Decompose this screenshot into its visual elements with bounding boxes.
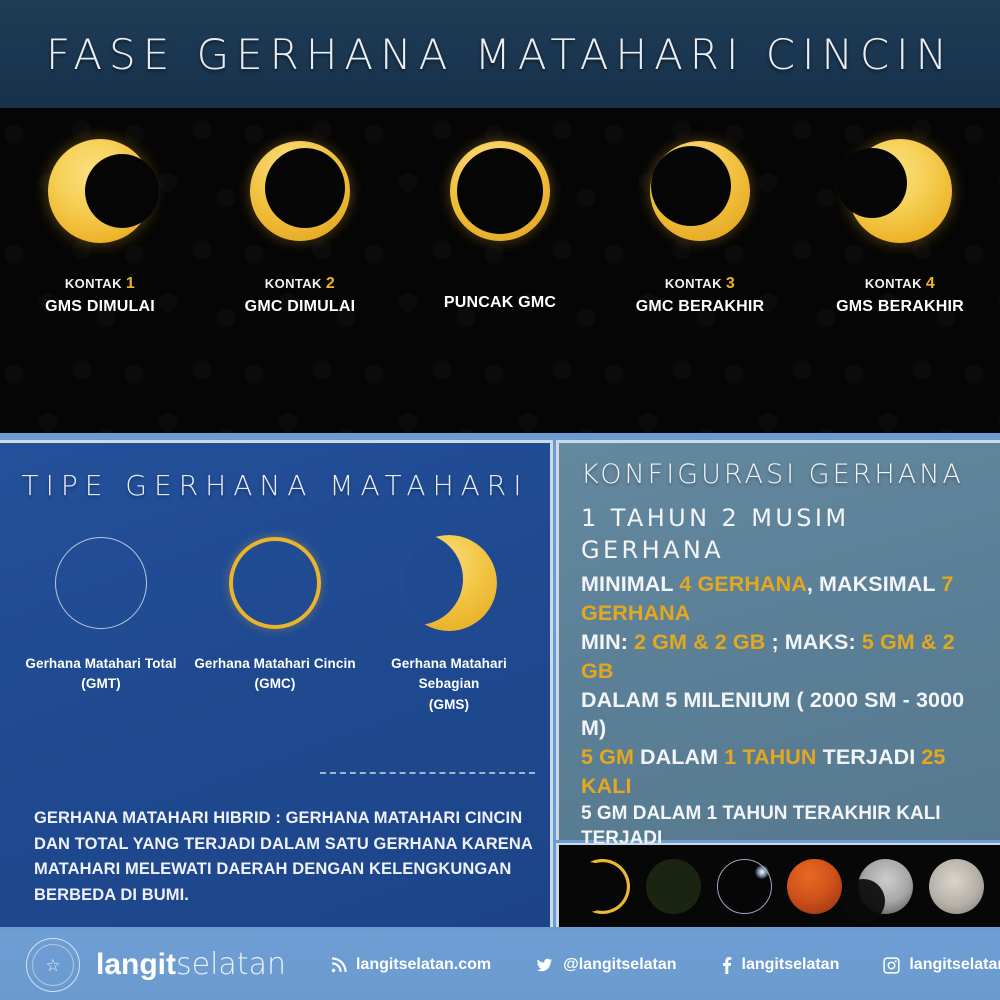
eclipse-type-gmc: Gerhana Matahari Cincin (GMC) xyxy=(188,528,362,715)
phase-kontak-label-4: KONTAK 3 xyxy=(636,272,765,295)
phase-sub-2: GMC DIMULAI xyxy=(245,295,356,318)
phase-kontak-number-2: 2 xyxy=(326,275,335,292)
phase-kontak-number-1: 1 xyxy=(126,275,135,292)
phase-sub-5: GMS BERAKHIR xyxy=(836,295,964,318)
social-label-twitter: @langitselatan xyxy=(563,956,676,974)
total-solar-eclipse-corona-photo xyxy=(717,859,772,914)
eclipse-type-gmc-label: Gerhana Matahari Cincin (GMC) xyxy=(194,654,355,695)
konfigurasi-line-3: MIN: 2 GM & 2 GB ; MAKS: 5 GM & 2 GB xyxy=(581,628,985,686)
phase-item-4: KONTAK 3 GMC BERAKHIR xyxy=(600,108,800,433)
konfigurasi-line-4: DALAM 5 MILENIUM ( 2000 SM - 3000 M) xyxy=(581,686,985,744)
phase-kontak-number-4: 3 xyxy=(726,275,735,292)
eclipse-types-row: Gerhana Matahari Total (GMT) Gerhana Mat… xyxy=(0,528,550,715)
eclipse-type-gms: Gerhana Matahari Sebagian (GMS) xyxy=(362,528,536,715)
left-panel-divider xyxy=(320,772,535,774)
phase-sub-4: GMC BERAKHIR xyxy=(636,295,765,318)
rss-icon xyxy=(330,957,347,974)
brand-light-part: selatan xyxy=(176,947,286,982)
phase-kontak-number-5: 4 xyxy=(926,275,935,292)
konfigurasi-line-2: MINIMAL 4 GERHANA, MAKSIMAL 7 GERHANA xyxy=(581,570,985,628)
annular-eclipse-photo xyxy=(646,859,701,914)
konfigurasi-line-1: 1 TAHUN 2 MUSIM GERHANA xyxy=(581,502,985,566)
seal-rider-glyph: ☆ xyxy=(45,957,60,974)
brand-bold-part: langit xyxy=(96,948,176,981)
sun-bitten-left-icon xyxy=(835,126,965,256)
twitter-icon xyxy=(535,957,554,974)
langitselatan-seal-logo: ☆ xyxy=(26,938,80,992)
social-link-twitter[interactable]: @langitselatan xyxy=(535,956,676,974)
eclipse-type-gmt-label: Gerhana Matahari Total (GMT) xyxy=(25,654,176,695)
phase-item-2: KONTAK 2 GMC DIMULAI xyxy=(200,108,400,433)
konfigurasi-panel-title: KONFIGURASI GERHANA xyxy=(581,459,1000,490)
partial-eclipse-icon xyxy=(394,528,504,638)
tipe-panel-title: TIPE GERHANA MATAHARI xyxy=(0,469,550,502)
infographic-page: FASE GERHANA MATAHARI CINCIN KONTAK 1 GM… xyxy=(0,0,1000,1000)
eclipse-type-gms-label: Gerhana Matahari Sebagian (GMS) xyxy=(362,654,536,715)
sun-bitten-right-icon xyxy=(35,126,165,256)
total-eclipse-icon xyxy=(46,528,156,638)
social-label-facebook: langitselatan xyxy=(742,956,840,974)
phase-kontak-label-5: KONTAK 4 xyxy=(836,272,964,295)
social-label-instagram: langitselatanmedia xyxy=(909,956,1000,974)
ring-thick-right-icon xyxy=(635,126,765,256)
eclipse-phases-section: KONTAK 1 GMS DIMULAI KONTAK 2 GMC DIMU xyxy=(0,108,1000,433)
page-footer: ☆ langitselatan langitselatan.com @langi… xyxy=(0,930,1000,1000)
phase-kontak-label-1: KONTAK 1 xyxy=(45,272,155,295)
annular-eclipse-icon xyxy=(220,528,330,638)
page-header: FASE GERHANA MATAHARI CINCIN xyxy=(0,0,1000,108)
konfigurasi-gerhana-panel: KONFIGURASI GERHANA 1 TAHUN 2 MUSIM GERH… xyxy=(556,440,1000,840)
hybrid-eclipse-text: GERHANA MATAHARI HIBRID : GERHANA MATAHA… xyxy=(34,806,534,908)
page-title: FASE GERHANA MATAHARI CINCIN xyxy=(46,30,954,79)
brand-wordmark: langitselatan xyxy=(96,950,286,980)
partial-lunar-eclipse-photo xyxy=(858,859,913,914)
social-link-website[interactable]: langitselatan.com xyxy=(330,956,491,974)
facebook-icon xyxy=(721,956,733,974)
instagram-icon xyxy=(883,957,900,974)
konfigurasi-line-5: 5 GM DALAM 1 TAHUN TERJADI 25 KALI xyxy=(581,743,985,801)
phase-sub-3: PUNCAK GMC xyxy=(444,291,556,314)
phase-item-5: KONTAK 4 GMS BERAKHIR xyxy=(800,108,1000,433)
total-lunar-eclipse-blood-moon-photo xyxy=(787,859,842,914)
phase-item-3: PUNCAK GMC xyxy=(400,108,600,433)
social-link-instagram[interactable]: langitselatanmedia xyxy=(883,956,1000,974)
ring-thick-left-icon xyxy=(235,126,365,256)
phase-kontak-label-2: KONTAK 2 xyxy=(245,272,356,295)
phase-item-1: KONTAK 1 GMS DIMULAI xyxy=(0,108,200,433)
eclipse-photo-strip xyxy=(556,843,1000,927)
full-moon-photo xyxy=(929,859,984,914)
eclipse-type-gmt: Gerhana Matahari Total (GMT) xyxy=(14,528,188,715)
ring-even-icon xyxy=(435,126,565,256)
social-link-facebook[interactable]: langitselatan xyxy=(721,956,840,974)
partial-solar-eclipse-photo xyxy=(575,859,630,914)
phase-sub-1: GMS DIMULAI xyxy=(45,295,155,318)
social-links: langitselatan.com @langitselatan langits… xyxy=(286,956,1000,974)
social-label-website: langitselatan.com xyxy=(356,956,491,974)
